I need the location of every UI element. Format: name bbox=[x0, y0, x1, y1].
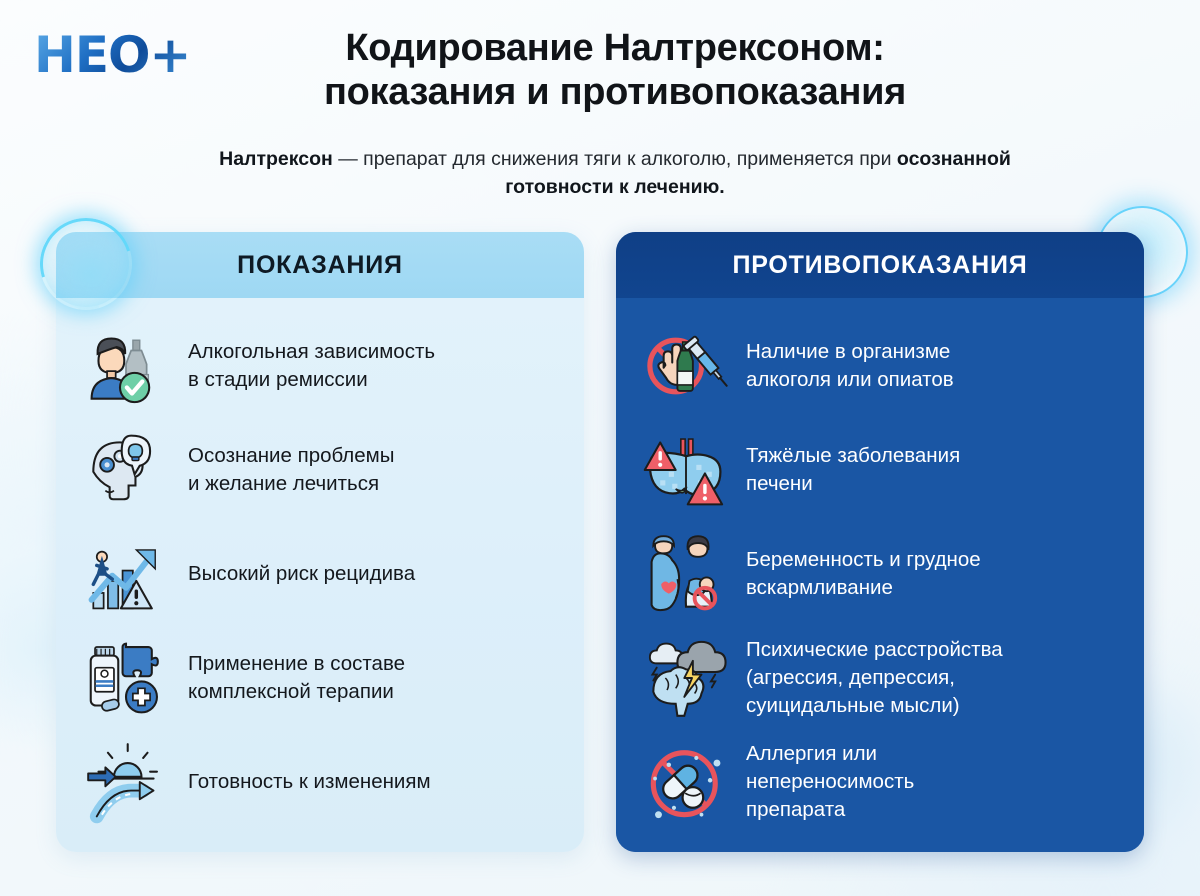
risk-chart-arrow-icon bbox=[82, 530, 170, 618]
list-item-label: Аллергия или непереносимость препарата bbox=[746, 740, 914, 823]
brand-logo: HEO+ bbox=[34, 30, 190, 80]
brand-logo-name: HEO bbox=[34, 26, 150, 84]
cards-container: ПОКАЗАНИЯ А bbox=[0, 232, 1200, 852]
list-item: Наличие в организме алкоголя или опиатов bbox=[642, 314, 1122, 418]
list-item: Готовность к изменениям bbox=[82, 730, 562, 834]
list-item: Применение в составе комплексной терапии bbox=[82, 626, 562, 730]
no-pills-allergy-icon bbox=[642, 738, 730, 826]
person-bottle-check-icon bbox=[82, 322, 170, 410]
page-header: HEO+ Кодирование Налтрексоном: показания… bbox=[0, 0, 1200, 210]
pregnancy-breastfeeding-icon bbox=[642, 530, 730, 618]
list-item-label: Тяжёлые заболевания печени bbox=[746, 442, 960, 497]
subtitle-drug-name: Налтрексон bbox=[219, 148, 333, 170]
list-item-label: Наличие в организме алкоголя или опиатов bbox=[746, 338, 954, 393]
page-title-line1: Кодирование Налтрексоном: bbox=[215, 26, 1015, 70]
contraindications-list: Наличие в организме алкоголя или опиатов bbox=[616, 298, 1144, 852]
list-item-label: Применение в составе комплексной терапии bbox=[188, 650, 405, 705]
list-item-label: Осознание проблемы и желание лечиться bbox=[188, 442, 395, 497]
sunrise-road-arrow-icon bbox=[82, 738, 170, 826]
indications-list: Алкогольная зависимость в стадии ремисси… bbox=[56, 298, 584, 852]
list-item: Психические расстройства (агрессия, депр… bbox=[642, 626, 1122, 730]
brain-storm-cloud-icon bbox=[642, 634, 730, 722]
list-item: Высокий риск рецидива bbox=[82, 522, 562, 626]
page-subtitle: Налтрексон — препарат для снижения тяги … bbox=[215, 146, 1015, 201]
list-item: Алкогольная зависимость в стадии ремисси… bbox=[82, 314, 562, 418]
pill-bottle-puzzle-cross-icon bbox=[82, 634, 170, 722]
list-item: Тяжёлые заболевания печени bbox=[642, 418, 1122, 522]
list-item-label: Высокий риск рецидива bbox=[188, 560, 415, 588]
page-title-line2: показания и противопоказания bbox=[215, 70, 1015, 114]
list-item-label: Готовность к изменениям bbox=[188, 768, 431, 796]
list-item: Беременность и грудное вскармливание bbox=[642, 522, 1122, 626]
brand-logo-plus: + bbox=[150, 26, 191, 84]
page-title: Кодирование Налтрексоном: показания и пр… bbox=[215, 26, 1015, 115]
list-item-label: Алкогольная зависимость в стадии ремисси… bbox=[188, 338, 435, 393]
contraindications-card: ПРОТИВОПОКАЗАНИЯ bbox=[616, 232, 1144, 852]
subtitle-middle-text: — препарат для снижения тяги к алкоголю,… bbox=[333, 148, 897, 170]
indications-heading: ПОКАЗАНИЯ bbox=[56, 232, 584, 298]
head-gears-lightbulb-icon bbox=[82, 426, 170, 514]
liver-warning-icon bbox=[642, 426, 730, 514]
list-item-label: Психические расстройства (агрессия, депр… bbox=[746, 636, 1003, 719]
list-item: Осознание проблемы и желание лечиться bbox=[82, 418, 562, 522]
contraindications-heading: ПРОТИВОПОКАЗАНИЯ bbox=[616, 232, 1144, 298]
no-alcohol-syringe-icon bbox=[642, 322, 730, 410]
list-item: Аллергия или непереносимость препарата bbox=[642, 730, 1122, 834]
list-item-label: Беременность и грудное вскармливание bbox=[746, 546, 981, 601]
indications-card: ПОКАЗАНИЯ А bbox=[56, 232, 584, 852]
